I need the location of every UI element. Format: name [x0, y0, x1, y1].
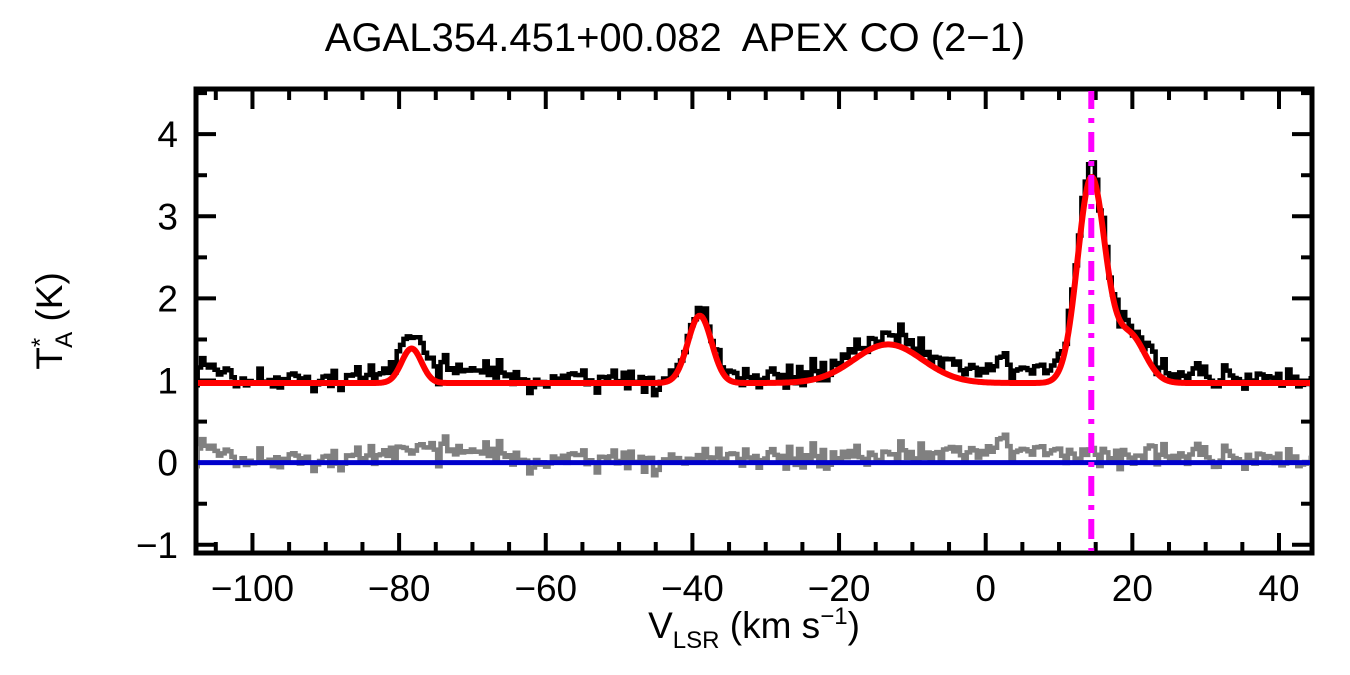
x-tick-label: 40	[1258, 568, 1299, 609]
y-tick-label: 2	[157, 278, 178, 319]
spectrum-histogram	[196, 162, 1312, 395]
axes	[196, 89, 1312, 553]
y-tick-label: 3	[157, 196, 178, 237]
residual-histogram	[196, 435, 1312, 476]
x-tick-label: −60	[514, 568, 577, 609]
y-tick-label: 0	[157, 443, 178, 484]
data-layer	[196, 89, 1312, 553]
x-tick-label: −40	[661, 568, 724, 609]
x-tick-label: 0	[975, 568, 996, 609]
y-axis-title: T*A (K)	[27, 272, 78, 370]
y-tick-label: 1	[157, 361, 178, 402]
spectrum-chart: −100−80−60−40−2002040−101234VLSR (km s−1…	[0, 0, 1350, 675]
y-tick-label: 4	[157, 114, 178, 155]
y-tick-label: −1	[136, 525, 178, 566]
x-tick-label: −100	[211, 568, 294, 609]
x-axis-title: VLSR (km s−1)	[648, 603, 860, 654]
x-tick-label: 20	[1112, 568, 1153, 609]
spectrum-figure: AGAL354.451+00.082 APEX CO (2−1) −100−80…	[0, 0, 1350, 675]
x-tick-label: −80	[368, 568, 431, 609]
plot-frame	[196, 89, 1312, 553]
gaussian-fit-line	[196, 177, 1311, 383]
clipped-data	[196, 89, 1312, 553]
